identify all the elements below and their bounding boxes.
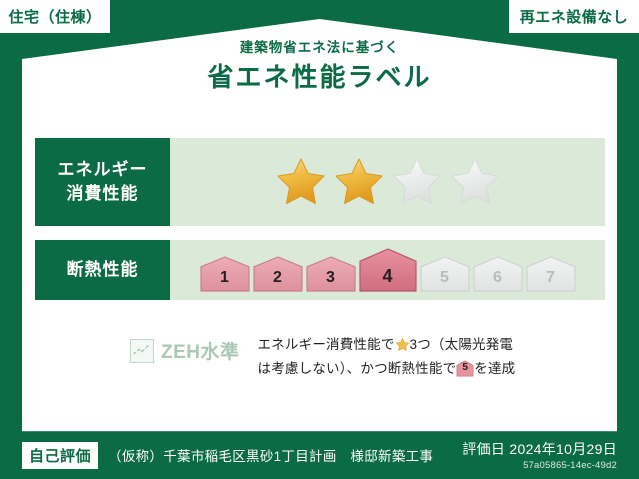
- zeh-mark-label: ZEH水準: [161, 337, 240, 364]
- insulation-level-2: 2: [253, 256, 303, 292]
- star-filled-icon: [274, 155, 328, 209]
- star-empty-icon: [448, 155, 502, 209]
- evaluation-date: 評価日 2024年10月29日: [462, 439, 617, 459]
- inline-house-number: 5: [456, 359, 474, 377]
- zeh-desc-part2: は考慮しない）、かつ断熱性能で: [258, 361, 457, 376]
- zeh-description: エネルギー消費性能で3つ（太陽光発電は考慮しない）、かつ断熱性能で5を達成: [258, 333, 605, 380]
- energy-performance-label: 住宅（住棟） 再エネ設備なし 建築物省エネ法に基づく 省エネ性能ラベル エネルギ…: [0, 0, 639, 479]
- zeh-mark: ZEH水準: [130, 333, 240, 364]
- energy-label-line2: 消費性能: [67, 182, 139, 206]
- footer: 自己評価 （仮称）千葉市稲毛区黒砂1丁目計画 様邸新築工事 評価日 2024年1…: [0, 431, 639, 479]
- insulation-level-3: 3: [306, 256, 356, 292]
- row-insulation-performance: 断熱性能 1234567: [35, 240, 605, 300]
- insulation-level-6: 6: [473, 256, 523, 292]
- star-rating: [274, 155, 502, 209]
- energy-performance-value: [170, 138, 605, 226]
- energy-label-line1: エネルギー: [58, 158, 148, 182]
- self-evaluation-badge: 自己評価: [22, 442, 98, 469]
- house-shape-icon: [359, 248, 417, 292]
- insulation-label: 断熱性能: [67, 258, 139, 282]
- project-name: （仮称）千葉市稲毛区黒砂1丁目計画 様邸新築工事: [108, 445, 462, 465]
- house-shape-icon: [526, 256, 576, 292]
- title-main: 省エネ性能ラベル: [0, 61, 639, 95]
- badge-renewable-equipment: 再エネ設備なし: [509, 0, 639, 33]
- evaluation-meta: 評価日 2024年10月29日 57a05865-14ec-49d2: [462, 439, 617, 471]
- insulation-performance-label-box: 断熱性能: [35, 240, 170, 300]
- badge-building-type: 住宅（住棟）: [0, 0, 110, 33]
- zeh-chart-icon: [130, 339, 154, 363]
- zeh-desc-star-count: 3つ（太陽光発電: [410, 337, 514, 352]
- title-subtitle: 建築物省エネ法に基づく: [0, 40, 639, 56]
- evaluation-id: 57a05865-14ec-49d2: [462, 460, 617, 471]
- energy-performance-label-box: エネルギー 消費性能: [35, 138, 170, 226]
- insulation-level-1: 1: [200, 256, 250, 292]
- house-shape-icon: [306, 256, 356, 292]
- insulation-level-scale: 1234567: [200, 248, 576, 292]
- row-energy-performance: エネルギー 消費性能: [35, 138, 605, 226]
- inline-house-icon: 5: [456, 360, 474, 377]
- inline-star-icon: [395, 336, 410, 351]
- star-empty-icon: [390, 155, 444, 209]
- house-shape-icon: [200, 256, 250, 292]
- page-title: 建築物省エネ法に基づく 省エネ性能ラベル: [0, 40, 639, 95]
- house-shape-icon: [253, 256, 303, 292]
- zeh-standard-row: ZEH水準 エネルギー消費性能で3つ（太陽光発電は考慮しない）、かつ断熱性能で5…: [35, 333, 605, 380]
- badge-renewable-equipment-text: 再エネ設備なし: [520, 6, 629, 27]
- insulation-performance-value: 1234567: [170, 240, 605, 300]
- house-shape-icon: [420, 256, 470, 292]
- star-filled-icon: [332, 155, 386, 209]
- zeh-desc-part1: エネルギー消費性能で: [258, 337, 395, 352]
- insulation-level-5: 5: [420, 256, 470, 292]
- zeh-desc-part3: を達成: [474, 361, 515, 376]
- house-shape-icon: [473, 256, 523, 292]
- badge-building-type-text: 住宅（住棟）: [8, 6, 101, 27]
- insulation-level-7: 7: [526, 256, 576, 292]
- footer-divider: [22, 431, 617, 432]
- insulation-level-4: 4: [359, 248, 417, 292]
